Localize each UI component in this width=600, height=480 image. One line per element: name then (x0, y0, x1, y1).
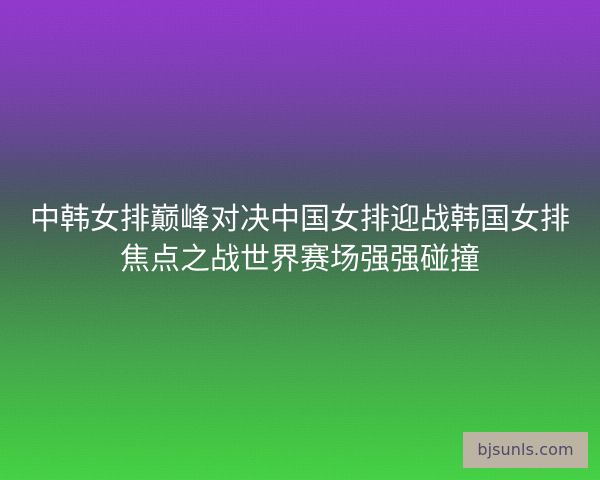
cover-image-canvas: 中韩女排巅峰对决中国女排迎战韩国女排 焦点之战世界赛场强强碰撞 bjsunls.… (0, 0, 600, 480)
watermark-badge: bjsunls.com (463, 432, 588, 468)
page-title-line-1: 中韩女排巅峰对决中国女排迎战韩国女排 (0, 200, 600, 240)
watermark-text: bjsunls.com (477, 442, 573, 458)
page-title-line-2: 焦点之战世界赛场强强碰撞 (0, 240, 600, 280)
page-title: 中韩女排巅峰对决中国女排迎战韩国女排 焦点之战世界赛场强强碰撞 (0, 200, 600, 280)
